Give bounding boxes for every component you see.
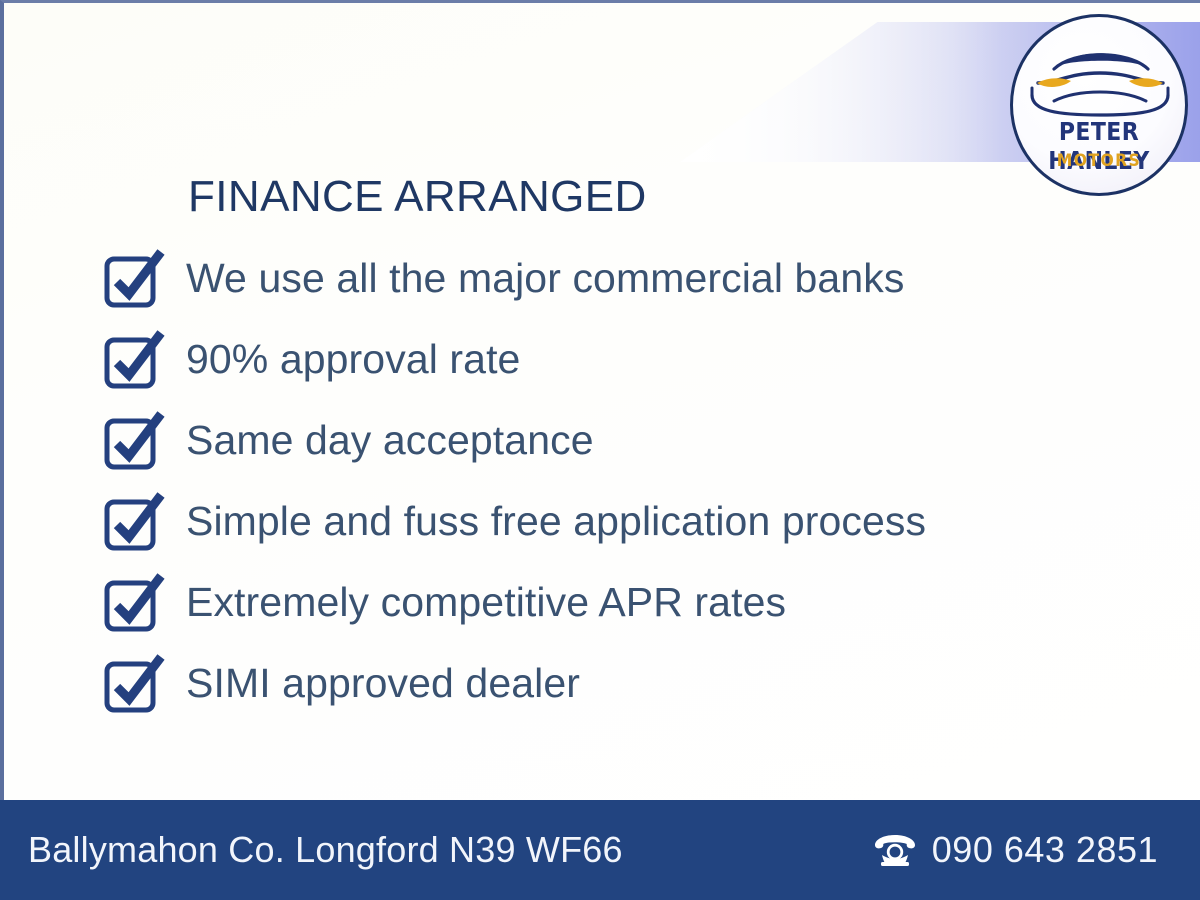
list-item-label: Extremely competitive APR rates	[186, 582, 786, 623]
footer-address: Ballymahon Co. Longford N39 WF66	[28, 829, 623, 871]
benefits-list: We use all the major commercial banks 90…	[104, 238, 1104, 724]
checkbox-checked-icon	[104, 249, 166, 309]
checkbox-checked-icon	[104, 492, 166, 552]
footer-bar: Ballymahon Co. Longford N39 WF66 090 643…	[0, 800, 1200, 900]
logo-brand-sub: MOTORS	[1020, 151, 1178, 171]
car-front-icon	[1024, 39, 1176, 117]
checkbox-checked-icon	[104, 573, 166, 633]
list-item-label: We use all the major commercial banks	[186, 258, 904, 299]
list-item: SIMI approved dealer	[104, 643, 1104, 724]
footer-phone-number: 090 643 2851	[932, 829, 1158, 871]
list-item-label: 90% approval rate	[186, 339, 520, 380]
list-item: We use all the major commercial banks	[104, 238, 1104, 319]
telephone-icon	[874, 833, 916, 867]
list-item-label: Same day acceptance	[186, 420, 594, 461]
list-item-label: SIMI approved dealer	[186, 663, 580, 704]
checkbox-checked-icon	[104, 330, 166, 390]
list-item: Same day acceptance	[104, 400, 1104, 481]
list-item: Simple and fuss free application process	[104, 481, 1104, 562]
advert-canvas: PETER HANLEY MOTORS FINANCE ARRANGED We …	[0, 0, 1200, 900]
page-title: FINANCE ARRANGED	[188, 172, 647, 222]
footer-phone-block[interactable]: 090 643 2851	[874, 829, 1158, 871]
list-item: 90% approval rate	[104, 319, 1104, 400]
dealer-logo[interactable]: PETER HANLEY MOTORS	[1010, 14, 1188, 196]
checkbox-checked-icon	[104, 411, 166, 471]
checkbox-checked-icon	[104, 654, 166, 714]
list-item: Extremely competitive APR rates	[104, 562, 1104, 643]
list-item-label: Simple and fuss free application process	[186, 501, 926, 542]
